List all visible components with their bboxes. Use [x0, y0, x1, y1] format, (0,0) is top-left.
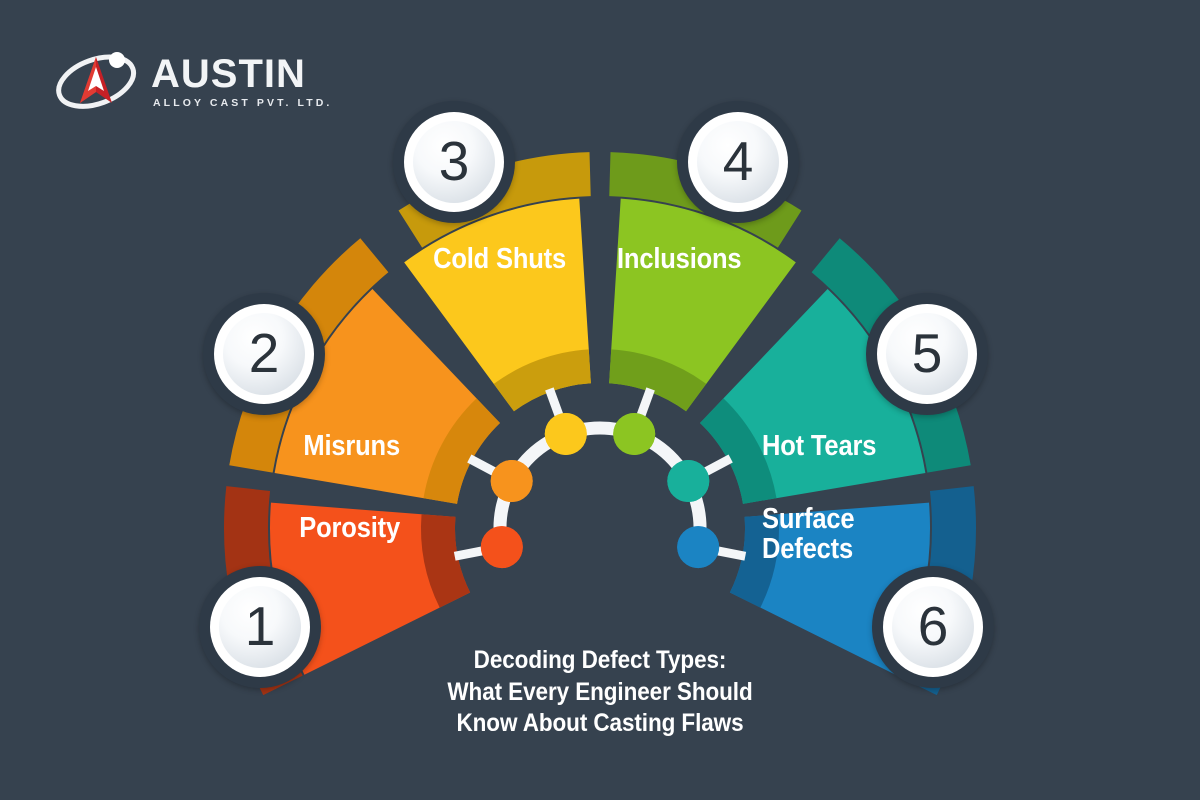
badge-disc-1: 1 — [219, 586, 301, 668]
badge-number-1: 1 — [245, 599, 276, 654]
number-badge-6[interactable]: 6 — [872, 566, 994, 688]
badge-disc-2: 2 — [223, 313, 305, 395]
badge-ring-1: 1 — [210, 577, 310, 677]
badge-number-6: 6 — [918, 599, 949, 654]
number-badge-5[interactable]: 5 — [866, 293, 988, 415]
badge-disc-3: 3 — [413, 121, 495, 203]
segment-label-3: Cold Shuts — [346, 245, 566, 275]
number-badge-2[interactable]: 2 — [203, 293, 325, 415]
badge-number-5: 5 — [912, 326, 943, 381]
number-badge-4[interactable]: 4 — [677, 101, 799, 223]
segment-label-2: Misruns — [180, 432, 400, 462]
hub-dot-top-6 — [677, 526, 719, 568]
badge-number-4: 4 — [723, 134, 754, 189]
segment-label-1: Porosity — [180, 514, 400, 544]
hub-dot-top-4 — [613, 413, 655, 455]
hub-dot-top-3 — [545, 413, 587, 455]
badge-disc-4: 4 — [697, 121, 779, 203]
badge-ring-2: 2 — [214, 304, 314, 404]
segment-label-5: Hot Tears — [762, 432, 982, 462]
badge-disc-5: 5 — [886, 313, 968, 395]
number-badge-3[interactable]: 3 — [393, 101, 515, 223]
hub-dot-top-1 — [481, 526, 523, 568]
caption-text: Decoding Defect Types: What Every Engine… — [420, 645, 780, 740]
infographic-canvas: AUSTIN ALLOY CAST PVT. LTD. PorosityMisr… — [0, 0, 1200, 800]
badge-ring-6: 6 — [883, 577, 983, 677]
badge-ring-4: 4 — [688, 112, 788, 212]
segment-label-4: Inclusions — [617, 245, 837, 275]
badge-ring-5: 5 — [877, 304, 977, 404]
badge-number-3: 3 — [439, 134, 470, 189]
wheel-hub — [455, 389, 746, 568]
badge-disc-6: 6 — [892, 586, 974, 668]
segment-label-6: Surface Defects — [762, 505, 982, 564]
badge-number-2: 2 — [249, 326, 280, 381]
badge-ring-3: 3 — [404, 112, 504, 212]
hub-dot-top-5 — [667, 460, 709, 502]
number-badge-1[interactable]: 1 — [199, 566, 321, 688]
hub-dot-top-2 — [491, 460, 533, 502]
